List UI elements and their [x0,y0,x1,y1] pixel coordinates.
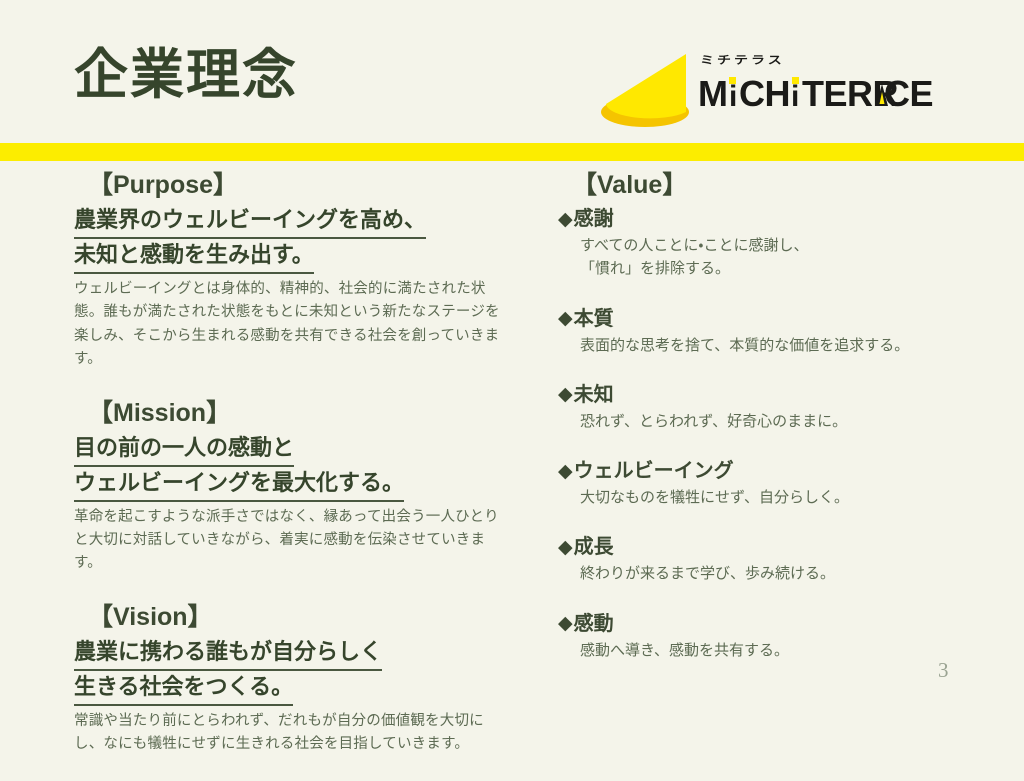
value-title: 感動 [574,611,614,637]
svg-text:i: i [729,80,737,113]
logo-wordmark-group: ミチテラス M i CH i TERR CE [698,48,938,130]
purpose-block: 【Purpose】 農業界のウェルビーイングを高め、 未知と感動を生み出す。 ウ… [74,170,504,372]
value-description: 感動へ導き、感動を共有する。 [558,639,978,662]
value-heading: ◆ 感謝 [558,206,978,232]
vision-body: 常識や当たり前にとらわれず、だれもが自分の価値観を大切にし、なにも犠牲にせずに生… [74,710,504,757]
value-description-line: 恐れず、とらわれず、好奇心のままに。 [580,413,847,430]
value-title: 本質 [574,306,614,332]
purpose-headline: 農業界のウェルビーイングを高め、 未知と感動を生み出す。 [74,204,504,274]
diamond-bullet-icon: ◆ [558,309,573,328]
mission-body: 革命を起こすような派手さではなく、縁あって出会う一人ひとりと大切に対話していきな… [74,506,504,576]
value-description-line: 終わりが来るまで学び、歩み続ける。 [580,565,835,582]
company-logo: ミチテラス M i CH i TERR CE [598,48,938,134]
value-description: 恐れず、とらわれず、好奇心のままに。 [558,410,978,433]
value-description: すべての人ことに・ことに感謝し、 「慣れ」を排除する。 [558,234,978,281]
value-description-line: 感動へ導き、感動を共有する。 [580,642,789,659]
mission-block: 【Mission】 目の前の一人の感動と ウェルビーイングを最大化する。 革命を… [74,398,504,576]
mission-label: 【Mission】 [74,398,504,428]
diamond-bullet-icon: ◆ [558,462,573,481]
vision-label: 【Vision】 [74,602,504,632]
purpose-headline-line-1: 農業界のウェルビーイングを高め、 [74,204,426,239]
slide-root: 企業理念 ミチテラス M i CH i TE [0,0,1024,768]
logo-wordmark: M i CH i TERR CE [698,74,938,114]
diamond-bullet-icon: ◆ [558,538,573,557]
value-heading: ◆ 感動 [558,611,978,637]
value-description-line: すべての人ことに・ことに感謝し、 [580,237,808,254]
logo-kana-text: ミチテラス [700,54,785,65]
value-label: 【Value】 [558,170,978,200]
light-beam-cone-icon [598,52,692,130]
value-heading: ◆ ウェルビーイング [558,458,978,484]
value-title: 未知 [574,382,614,408]
right-column: 【Value】 ◆ 感謝 すべての人ことに・ことに感謝し、 「慣れ」を排除する。… [558,170,978,687]
value-description: 表面的な思考を捨て、本質的な価値を追求する。 [558,334,978,357]
svg-text:M: M [698,74,728,114]
value-item-honshitsu: ◆ 本質 表面的な思考を捨て、本質的な価値を追求する。 [558,306,978,357]
value-item-kansha: ◆ 感謝 すべての人ことに・ことに感謝し、 「慣れ」を排除する。 [558,206,978,281]
svg-text:CH: CH [739,74,790,114]
diamond-bullet-icon: ◆ [558,210,573,229]
slide-header: 企業理念 ミチテラス M i CH i TE [0,0,1024,143]
value-item-kandou: ◆ 感動 感動へ導き、感動を共有する。 [558,611,978,662]
diamond-bullet-icon: ◆ [558,614,573,633]
value-title: ウェルビーイング [574,458,734,484]
mission-headline-line-2: ウェルビーイングを最大化する。 [74,467,404,502]
vision-headline-line-1: 農業に携わる誰もが自分らしく [74,636,382,671]
value-item-seichou: ◆ 成長 終わりが来るまで学び、歩み続ける。 [558,534,978,585]
value-item-wellbeing: ◆ ウェルビーイング 大切なものを犠牲にせず、自分らしく。 [558,458,978,509]
vision-headline-line-2: 生きる社会をつくる。 [74,671,293,706]
left-column: 【Purpose】 農業界のウェルビーイングを高め、 未知と感動を生み出す。 ウ… [74,170,504,781]
mission-headline: 目の前の一人の感動と ウェルビーイングを最大化する。 [74,432,504,502]
value-heading: ◆ 成長 [558,534,978,560]
vision-headline: 農業に携わる誰もが自分らしく 生きる社会をつくる。 [74,636,504,706]
yellow-divider-band [0,143,1024,161]
value-description-line: 大切なものを犠牲にせず、自分らしく。 [580,489,849,506]
value-heading: ◆ 本質 [558,306,978,332]
purpose-headline-line-2: 未知と感動を生み出す。 [74,239,314,274]
mission-headline-line-1: 目の前の一人の感動と [74,432,294,467]
value-description: 大切なものを犠牲にせず、自分らしく。 [558,486,978,509]
value-description-line: 「慣れ」を排除する。 [580,260,730,277]
diamond-bullet-icon: ◆ [558,385,573,404]
page-number: 3 [938,660,949,681]
value-description-line: 表面的な思考を捨て、本質的な価値を追求する。 [580,337,909,354]
value-description: 終わりが来るまで学び、歩み続ける。 [558,562,978,585]
value-heading: ◆ 未知 [558,382,978,408]
value-item-michi: ◆ 未知 恐れず、とらわれず、好奇心のままに。 [558,382,978,433]
vision-block: 【Vision】 農業に携わる誰もが自分らしく 生きる社会をつくる。 常識や当た… [74,602,504,757]
page-title: 企業理念 [74,48,298,102]
purpose-body: ウェルビーイングとは身体的、精神的、社会的に満たされた状態。誰もが満たされた状態… [74,278,504,372]
value-title: 感謝 [574,206,614,232]
svg-text:CE: CE [884,74,933,114]
svg-text:i: i [791,80,799,113]
purpose-label: 【Purpose】 [74,170,504,200]
value-title: 成長 [574,534,614,560]
